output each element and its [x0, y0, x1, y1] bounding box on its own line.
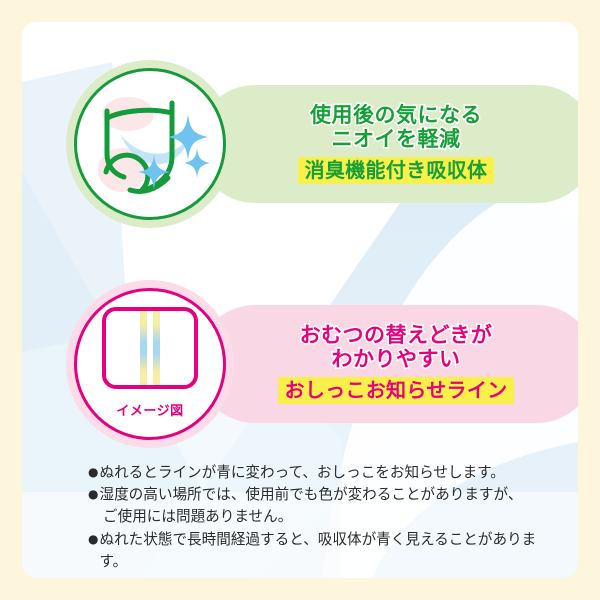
feature-2-tag: おしっこお知らせライン — [278, 377, 515, 405]
note-text: ぬれた状態で長時間経過すると、吸収体が青く見えることがあります。 — [99, 529, 558, 573]
note-item: ● ぬれた状態で長時間経過すると、吸収体が青く見えることがあります。 — [88, 529, 558, 573]
feature-1-headline-line-1: 使用後の気になる — [298, 104, 495, 128]
feature-1-text-block: 使用後の気になる ニオイを軽減 消臭機能付き吸収体 — [298, 104, 495, 185]
feature-2-text-block: おむつの替えどきが わかりやすい おしっこお知らせライン — [278, 324, 515, 405]
product-feature-panel: 使用後の気になる ニオイを軽減 消臭機能付き吸収体 — [0, 0, 600, 600]
feature-1-badge-circle — [74, 68, 226, 220]
note-text: 湿度の高い場所では、使用前でも色が変わることがありますが、 — [99, 484, 558, 506]
feature-1-text-pill: 使用後の気になる ニオイを軽減 消臭機能付き吸収体 — [196, 85, 578, 203]
feature-2-text-pill: おむつの替えどきが わかりやすい おしっこお知らせライン — [196, 305, 578, 423]
wetness-indicator-line-icon — [90, 297, 210, 415]
bullet-icon: ● — [88, 529, 98, 550]
note-text-continued: ご使用には問題ありません。 — [88, 506, 558, 528]
feature-wetness-indicator: おむつの替えどきが わかりやすい おしっこお知らせライン — [66, 280, 576, 450]
feature-2-badge: イメージ図 — [66, 280, 234, 448]
feature-2-headline-line-2: わかりやすい — [278, 348, 515, 372]
note-item: ● ぬれるとラインが青に変わって、おしっこをお知らせします。 — [88, 462, 558, 484]
feature-1-headline-line-2: ニオイを軽減 — [298, 128, 495, 152]
feature-odor-reduction: 使用後の気になる ニオイを軽減 消臭機能付き吸収体 — [66, 60, 576, 230]
feature-1-tag: 消臭機能付き吸収体 — [298, 157, 495, 185]
content-card: 使用後の気になる ニオイを軽減 消臭機能付き吸収体 — [22, 22, 578, 578]
note-text: ぬれるとラインが青に変わって、おしっこをお知らせします。 — [99, 462, 558, 484]
bullet-icon: ● — [88, 462, 98, 483]
bullet-icon: ● — [88, 484, 98, 505]
feature-2-icon-caption: イメージ図 — [77, 400, 223, 419]
note-item: ● 湿度の高い場所では、使用前でも色が変わることがありますが、 — [88, 484, 558, 506]
notes-list: ● ぬれるとラインが青に変わって、おしっこをお知らせします。 ● 湿度の高い場所… — [88, 462, 558, 573]
feature-1-badge — [66, 60, 234, 228]
diaper-sparkle-icon — [84, 78, 216, 210]
feature-2-headline-line-1: おむつの替えどきが — [278, 324, 515, 348]
feature-2-badge-circle: イメージ図 — [74, 288, 226, 440]
